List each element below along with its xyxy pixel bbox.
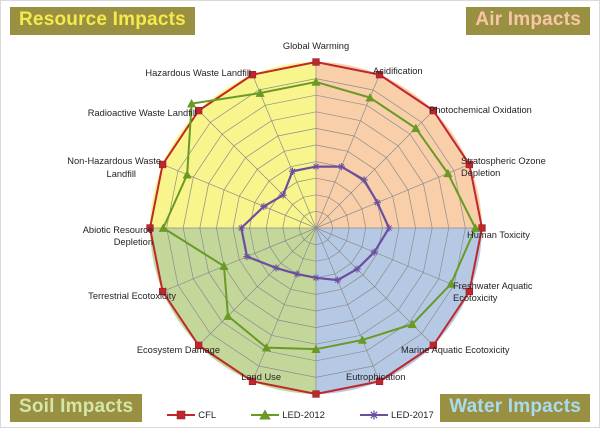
data-point-marker [312, 274, 319, 281]
data-point-marker [338, 163, 345, 170]
data-point-marker [260, 203, 267, 210]
legend-item-led-2017[interactable]: LED-2017 [359, 409, 434, 421]
axis-label: Radioactive Waste Landfill [88, 108, 197, 118]
axis-label: Ecosystem Damage [137, 345, 220, 355]
data-point-marker [280, 192, 287, 199]
axis-label: Hazardous Waste Landfill [145, 68, 251, 78]
legend-triangle-marker [250, 409, 280, 421]
data-point-marker [361, 176, 368, 183]
data-point-marker [353, 265, 360, 272]
legend-star-marker [359, 409, 389, 421]
data-point-marker [313, 59, 320, 66]
data-point-marker [385, 224, 392, 231]
radar-plot-area: Global WarmingAcidificationPhotochemical… [1, 1, 600, 428]
axis-label: Abiotic Resource [83, 225, 153, 235]
axis-label: Landfill [107, 169, 136, 179]
axis-label: Depletion [114, 237, 153, 247]
axis-label: Human Toxicity [467, 230, 530, 240]
data-point-marker [312, 163, 319, 170]
axis-label: Photochemical Oxidation [429, 105, 532, 115]
radar-chart-figure: Resource Impacts Air Impacts Soil Impact… [0, 0, 600, 428]
axis-label: Marine Aquatic Ecotoxicity [401, 345, 510, 355]
axis-label: Stratospheric Ozone [461, 156, 546, 166]
legend-item-cfl[interactable]: CFL [166, 409, 216, 421]
data-point-marker [374, 199, 381, 206]
legend-item-led-2012[interactable]: LED-2012 [250, 409, 325, 421]
data-point-marker [313, 391, 320, 398]
axis-label: Land Use [241, 372, 281, 382]
axis-label: Global Warming [283, 41, 349, 51]
legend-square-marker [166, 409, 196, 421]
data-point-marker [243, 253, 250, 260]
data-point-marker [371, 249, 378, 256]
axis-label: Eutrophication [346, 372, 405, 382]
data-point-marker [293, 270, 300, 277]
axis-label: Ecotoxicity [453, 293, 498, 303]
axis-label: Terrestrial Ecotoxicity [88, 291, 176, 301]
legend-label: CFL [197, 410, 216, 421]
data-point-marker [289, 168, 296, 175]
legend-label: LED-2012 [281, 410, 325, 421]
data-point-marker [238, 224, 245, 231]
data-point-marker [334, 277, 341, 284]
data-point-marker [272, 264, 279, 271]
legend-label: LED-2017 [390, 410, 434, 421]
axis-label: Acidification [373, 66, 423, 76]
axis-label: Depletion [461, 168, 500, 178]
axis-label: Freshwater Aquatic [453, 281, 533, 291]
axis-label: Non-Hazardous Waste [67, 156, 161, 166]
